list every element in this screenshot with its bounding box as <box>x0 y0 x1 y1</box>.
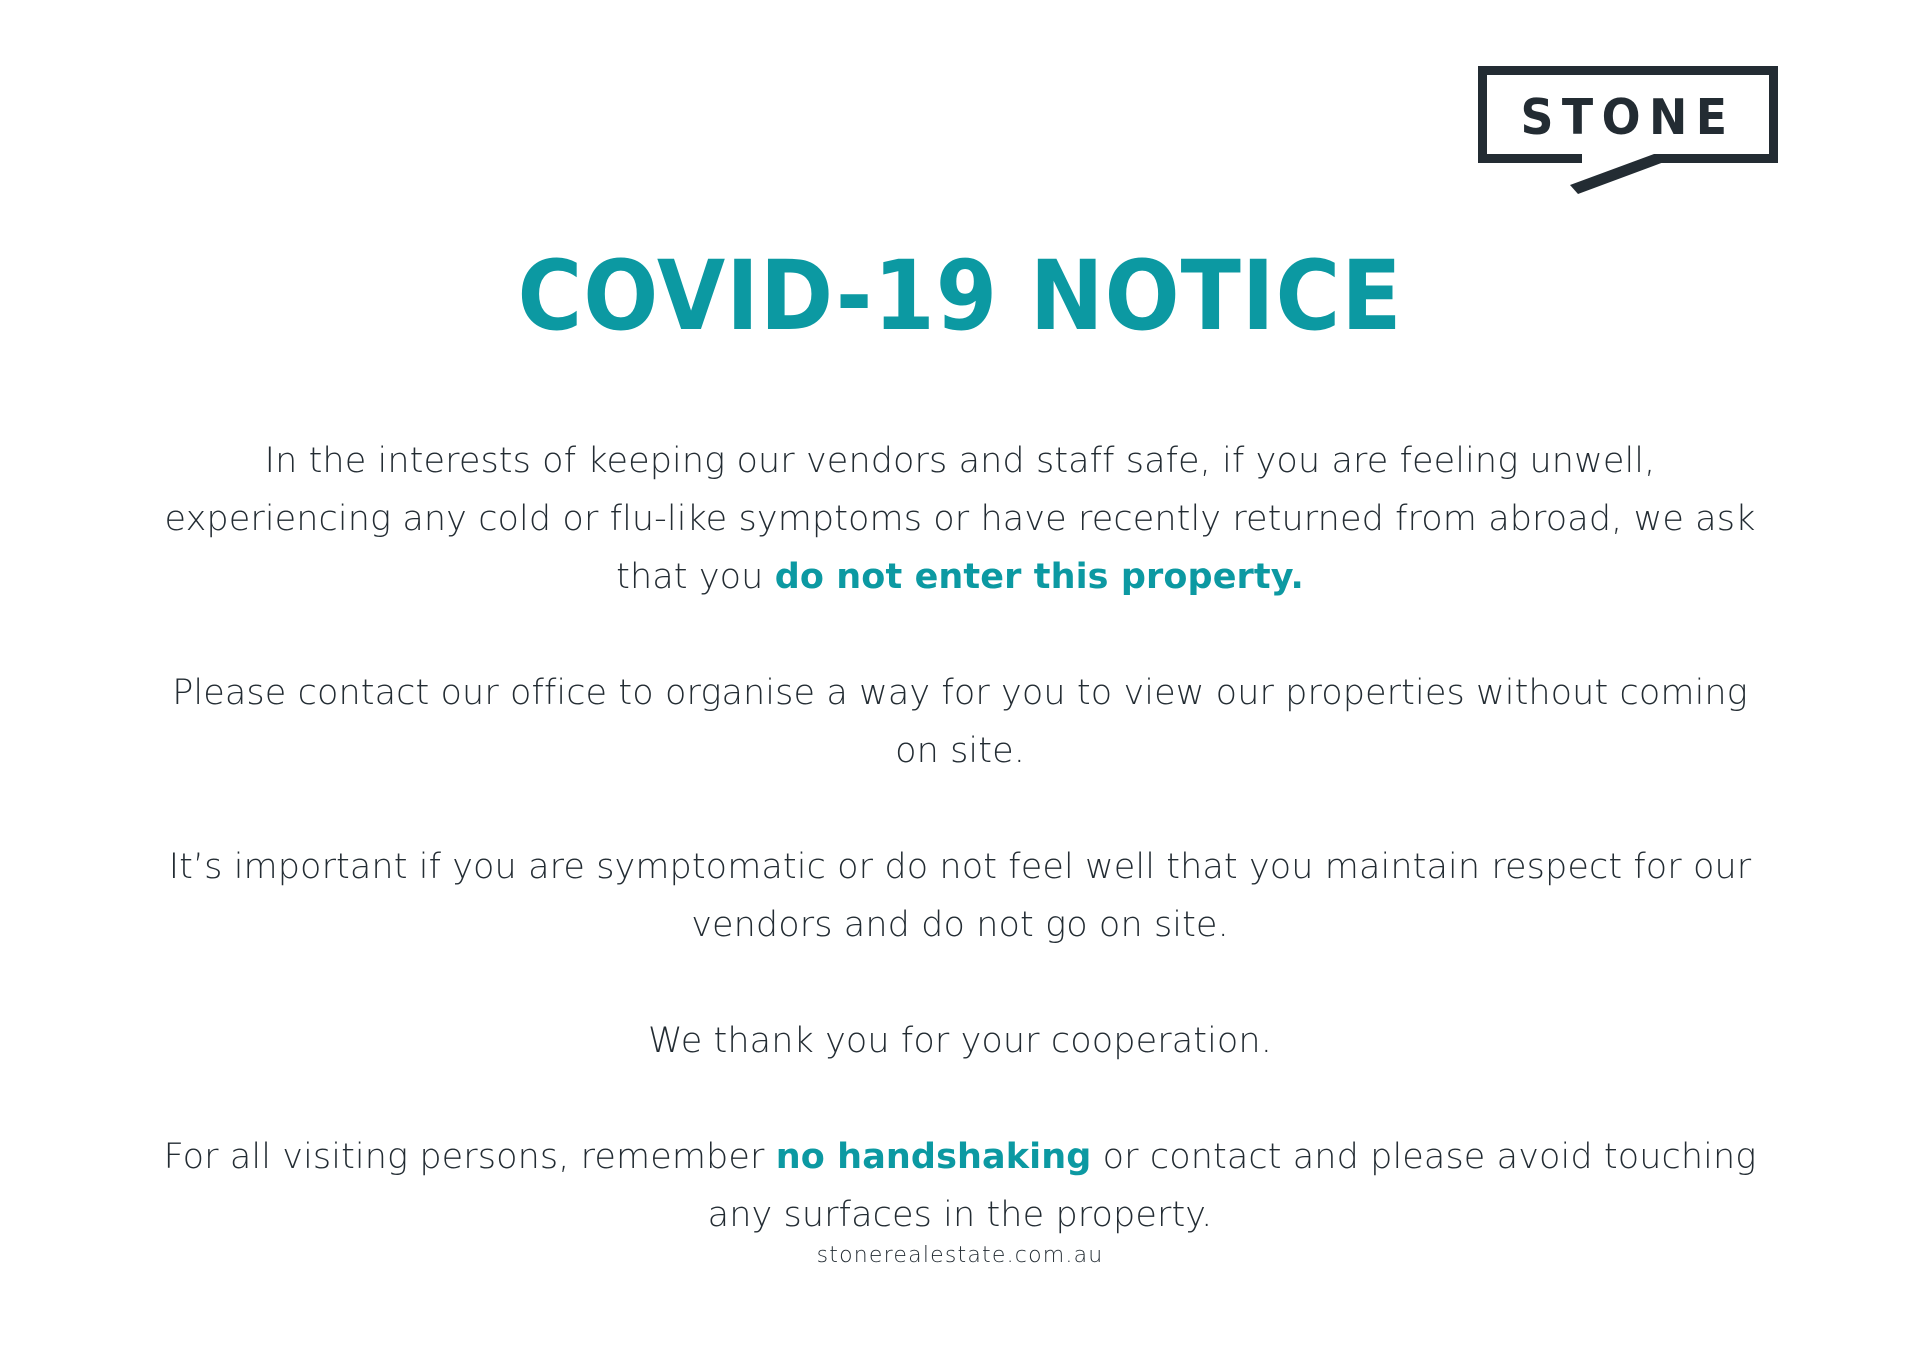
page-title: COVID-19 NOTICE <box>77 248 1843 344</box>
notice-paragraph: It’s important if you are symptomatic or… <box>160 838 1760 954</box>
paragraph-accent-text: do not enter this property. <box>775 557 1304 597</box>
notice-body: In the interests of keeping our vendors … <box>160 432 1760 1244</box>
footer-website: stonerealestate.com.au <box>0 1243 1920 1268</box>
stone-logo-icon: STONE <box>1478 66 1778 196</box>
notice-paragraph: Please contact our office to organise a … <box>160 664 1760 780</box>
paragraph-text: Please contact our office to organise a … <box>172 673 1748 771</box>
stone-logo-wordmark: STONE <box>1521 89 1736 146</box>
notice-paragraph: For all visiting persons, remember no ha… <box>160 1128 1760 1244</box>
paragraph-text: It’s important if you are symptomatic or… <box>169 847 1752 945</box>
notice-paragraph: In the interests of keeping our vendors … <box>160 432 1760 606</box>
notice-paragraph: We thank you for your cooperation. <box>160 1012 1760 1070</box>
paragraph-text: We thank you for your cooperation. <box>648 1021 1272 1061</box>
stone-logo: STONE <box>1478 66 1778 196</box>
paragraph-accent-text: no handshaking <box>776 1137 1092 1177</box>
paragraph-text: For all visiting persons, remember <box>164 1137 776 1177</box>
covid-notice-poster: STONE COVID-19 NOTICE In the interests o… <box>0 0 1920 1357</box>
